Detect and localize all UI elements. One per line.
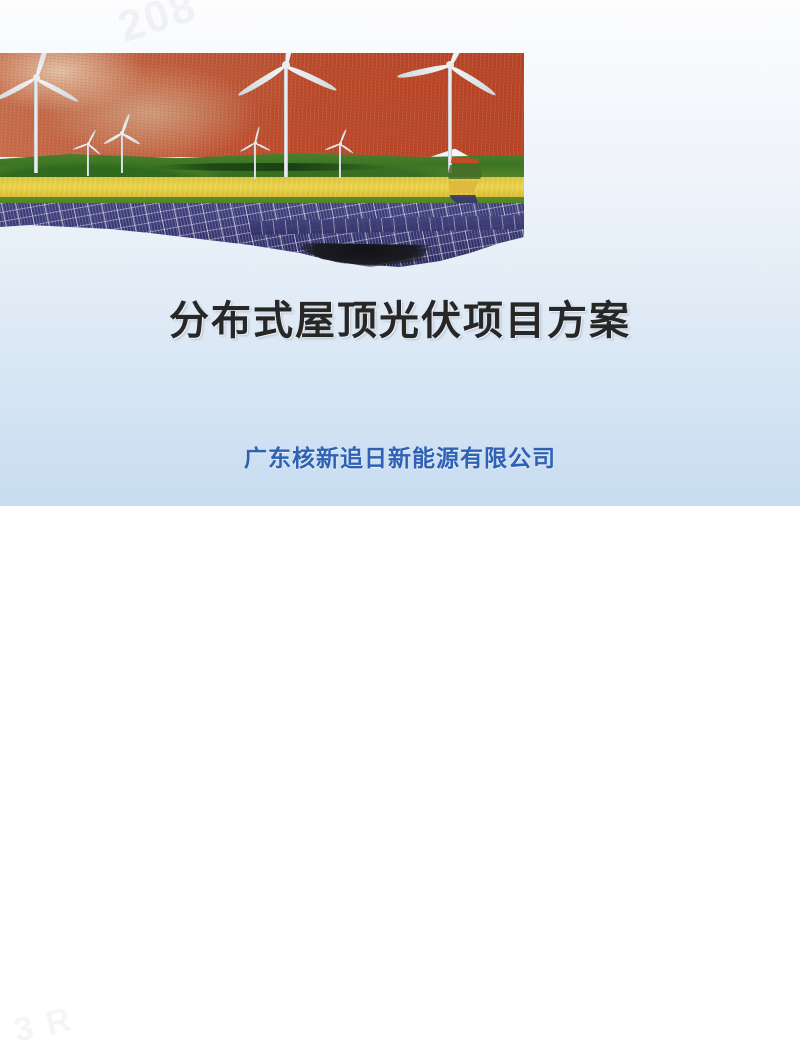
title-slide: 208 bbox=[0, 0, 800, 506]
wind-turbine-icon bbox=[74, 139, 102, 177]
company-name-subtitle: 广东核新追日新能源有限公司 bbox=[0, 439, 800, 473]
wind-turbine-icon bbox=[0, 63, 76, 173]
watermark-top: 208 bbox=[112, 0, 203, 53]
wind-turbine-icon bbox=[104, 127, 140, 173]
solar-panel-array bbox=[0, 203, 524, 267]
page-title: 分布式屋顶光伏项目方案 bbox=[0, 288, 800, 346]
wind-turbine-icon bbox=[404, 53, 496, 175]
renewable-energy-collage-image bbox=[0, 53, 524, 267]
page-bottom-margin: 3 R bbox=[0, 506, 800, 566]
wind-turbine-icon bbox=[240, 53, 332, 179]
watermark-bottom: 3 R bbox=[11, 1000, 77, 1050]
